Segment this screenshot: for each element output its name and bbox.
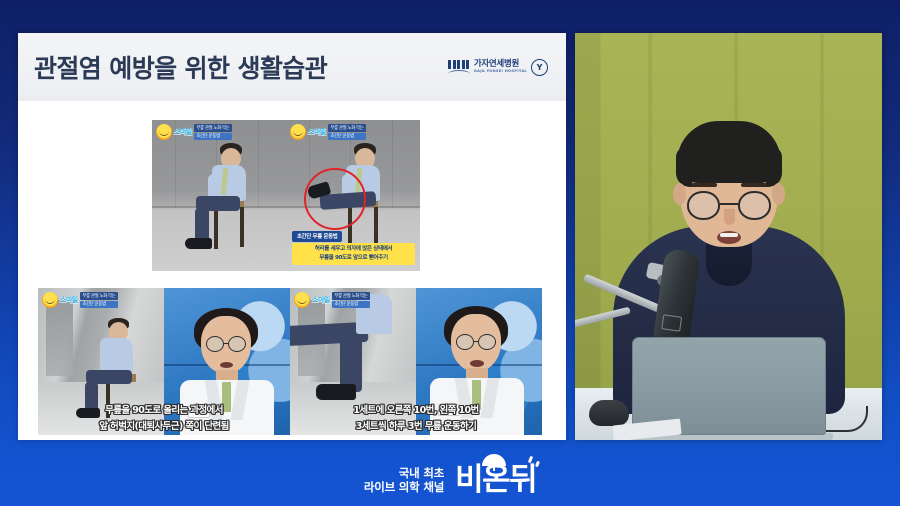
host-ear-left [673, 183, 686, 205]
doctor-mouth [470, 360, 484, 367]
umbrella-stick [493, 464, 495, 471]
caption-body: 허리를 세우고 의자에 앉은 상태에서 무릎을 90도로 앞으로 뻗어주기 [292, 243, 415, 265]
tagline-line2: 초간단 운동법 [328, 133, 366, 141]
slide-title: 관절염 예방을 위한 생활습관 [34, 49, 327, 85]
program-name: 스마일 [308, 127, 326, 137]
tagline-line1: 무릎 관절 노화 막는 [328, 124, 366, 132]
chair-leg [214, 207, 218, 249]
hospital-logo: 가자연세병원 GAJA YONSEI HOSPITAL Y [448, 59, 548, 76]
person-shoe [316, 384, 356, 400]
caption-box-yellow: 초간단 무릎 운동법 허리를 세우고 의자에 앉은 상태에서 무릎을 90도로 … [292, 223, 415, 265]
program-name: 스마일 [60, 295, 78, 305]
tagline-line2: 초간단 운동법 [194, 133, 232, 141]
tagline-line1: 무릎 관절 노화 막는 [332, 292, 370, 300]
hospital-bars-icon [448, 60, 469, 69]
program-tagline: 무릎 관절 노화 막는 초간단 운동법 [332, 292, 370, 308]
hospital-arc-icon [448, 70, 470, 74]
branding-line-2: 라이브 의학 채널 [364, 482, 444, 494]
host-mouth [717, 231, 741, 244]
host-glasses-left-lens [687, 191, 720, 220]
doctor-glasses-right-lens [228, 336, 246, 352]
subtitle-right-line2: 3세트씩 하루 3번 무릎 운동하기 [290, 420, 542, 434]
program-tagline: 무릎 관절 노화 막는 초간단 운동법 [194, 124, 232, 140]
doctor-mouth [220, 362, 233, 368]
hospital-name-en: GAJA YONSEI HOSPITAL [474, 70, 527, 74]
doctor-glasses-left-lens [456, 334, 474, 350]
subtitle-left-line1: 무릎을 90도로 올리는 과정에서 [38, 404, 290, 418]
sun-icon [290, 124, 306, 140]
program-bug: 스마일 무릎 관절 노화 막는 초간단 운동법 [294, 292, 370, 308]
program-bug: 스마일 무릎 관절 노화 막는 초간단 운동법 [156, 124, 232, 140]
program-bug: 스마일 무릎 관절 노화 막는 초간단 운동법 [42, 292, 118, 308]
host-webcam-feed[interactable] [575, 33, 882, 440]
doctor-glasses-left-lens [206, 336, 224, 352]
doctor-glasses-bridge [474, 341, 479, 342]
sun-icon [42, 292, 58, 308]
tagline-line1: 무릎 관절 노화 막는 [194, 124, 232, 132]
presentation-slide[interactable]: 관절염 예방을 위한 생활습관 가자연세병원 GAJA YONSEI HOSPI… [18, 33, 566, 440]
program-tagline: 무릎 관절 노화 막는 초간단 운동법 [80, 292, 118, 308]
person-shoe [185, 238, 212, 249]
hospital-seal-icon: Y [531, 59, 548, 76]
tagline-line1: 무릎 관절 노화 막는 [80, 292, 118, 300]
tagline-line2: 초간단 운동법 [80, 301, 118, 309]
sun-icon [294, 292, 310, 308]
subtitle-left-line2: 앞 허벅지(대퇴사두근) 쪽이 단련됨 [38, 420, 290, 434]
caption-header: 초간단 무릎 운동법 [292, 231, 342, 242]
subtitle-right-line1: 1세트에 오른쪽 10번, 왼쪽 10번 [290, 404, 542, 418]
person-shin [195, 208, 209, 242]
person-shirt [100, 338, 133, 374]
branding-text: 국내 최초 라이브 의학 채널 [364, 468, 444, 494]
highlight-circle-icon [304, 168, 366, 230]
program-name: 스마일 [174, 127, 192, 137]
branding-line-1: 국내 최초 [399, 468, 444, 480]
umbrella-icon [482, 454, 506, 467]
host-nose [724, 209, 735, 225]
hospital-building-icon [448, 60, 470, 74]
host-eyebrow-right [741, 183, 767, 187]
thumbnail-seated-start[interactable]: 스마일 무릎 관절 노화 막는 초간단 운동법 [152, 120, 286, 271]
host-glasses-bridge [720, 203, 738, 205]
tagline-line2: 초간단 운동법 [332, 301, 370, 309]
sun-icon [156, 124, 172, 140]
caption-line-2: 무릎을 90도로 앞으로 뻗어주기 [296, 254, 411, 263]
channel-logo-text: 비온뒤 [455, 465, 536, 496]
computer-mouse [589, 400, 629, 426]
program-tagline: 무릎 관절 노화 막는 초간단 운동법 [328, 124, 366, 140]
host-eyebrow-left [691, 183, 717, 187]
channel-branding: 국내 최초 라이브 의학 채널 비온뒤 [0, 465, 900, 496]
doctor-glasses-right-lens [478, 334, 496, 350]
hospital-name-block: 가자연세병원 GAJA YONSEI HOSPITAL [474, 60, 527, 74]
channel-logo: 비온뒤 [455, 465, 536, 496]
hospital-name-kr: 가자연세병원 [474, 60, 527, 69]
slide-header: 관절염 예방을 위한 생활습관 가자연세병원 GAJA YONSEI HOSPI… [18, 33, 566, 101]
raindrop-icon [535, 461, 540, 468]
program-name: 스마일 [312, 295, 330, 305]
doctor-glasses-bridge [224, 343, 229, 344]
program-bug: 스마일 무릎 관절 노화 막는 초간단 운동법 [290, 124, 366, 140]
host-ear-right [772, 183, 785, 205]
thumbnail-knee-extension[interactable]: 스마일 무릎 관절 노화 막는 초간단 운동법 초간단 무릎 운동법 허리를 세… [286, 120, 420, 271]
host-hair [677, 121, 781, 183]
host-glasses-right-lens [738, 191, 771, 220]
caption-line-1: 허리를 세우고 의자에 앉은 상태에서 [296, 245, 411, 254]
chair-leg [240, 207, 244, 247]
